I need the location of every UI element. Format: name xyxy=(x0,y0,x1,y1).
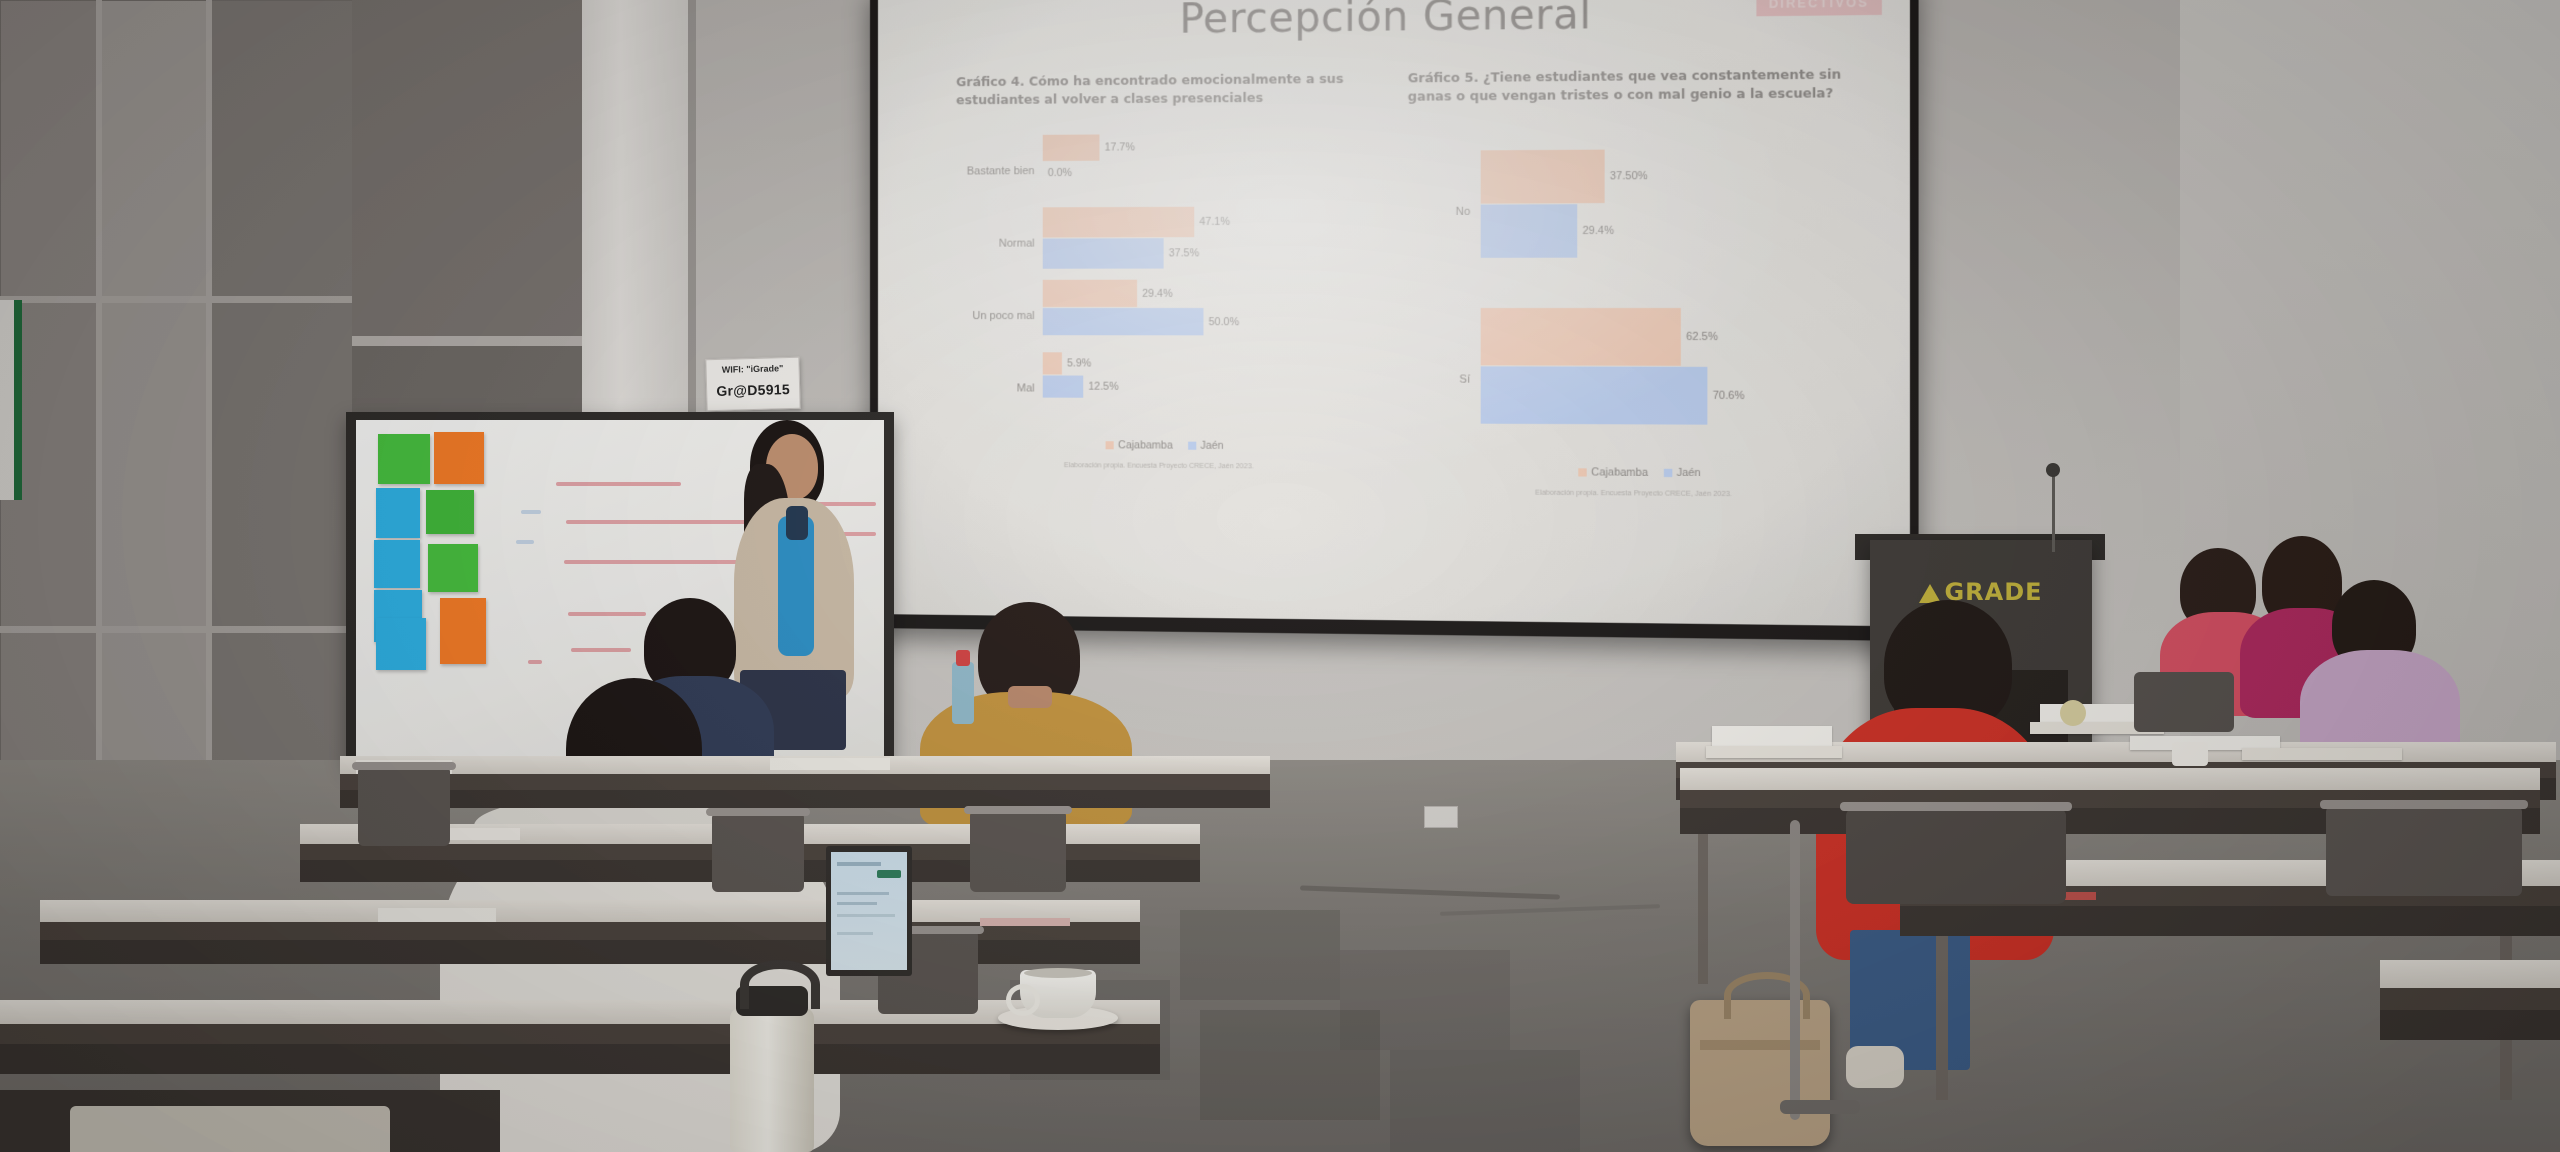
chart-4-val-3-1: 12.5% xyxy=(1083,381,1118,393)
sticky-note-blue xyxy=(376,488,420,538)
wifi-password-label: Gr@D5915 xyxy=(707,381,799,399)
wall-panel-upper xyxy=(352,0,584,340)
chart-5-title-lead: Gráfico 5. xyxy=(1408,69,1479,85)
chart-5-group-no: No 37.50% 29.4% xyxy=(1408,148,1863,273)
chart-5-legend-swatch-jaen xyxy=(1664,469,1672,477)
chart-5-val-0-1: 29.4% xyxy=(1577,225,1614,237)
chart-4-title: Gráfico 4. Cómo ha encontrado emocionalm… xyxy=(956,70,1364,110)
chart-4-legend-label-jaen: Jaén xyxy=(1200,440,1223,452)
chart-5-title: Gráfico 5. ¿Tiene estudiantes que vea co… xyxy=(1408,65,1863,106)
chart-4-title-lead: Gráfico 4. xyxy=(956,74,1024,90)
water-bottle xyxy=(712,960,832,1152)
chart-4-group-bastante-bien: Bastante bien 17.7% 0.0% xyxy=(956,133,1364,208)
chair-back xyxy=(1846,808,2066,904)
sticky-note-blue xyxy=(376,618,426,670)
chart-4-val-0-0: 17.7% xyxy=(1099,142,1134,154)
chair-back xyxy=(712,812,804,892)
chair-back xyxy=(2326,806,2522,896)
projection-screen: Percepción General DIRECTIVOS Gráfico 4.… xyxy=(878,0,1910,626)
bag-foreground xyxy=(70,1106,390,1152)
presentation-slide: Percepción General DIRECTIVOS Gráfico 4.… xyxy=(878,0,1910,626)
sticky-note-orange xyxy=(434,432,484,484)
chart-5-plot: No 37.50% 29.4% Sí 62.5% 70.6% xyxy=(1408,148,1863,501)
chair-back xyxy=(2134,672,2234,732)
attendee4-shoe xyxy=(1846,1046,1904,1088)
chart-4-legend: Cajabamba Jaén xyxy=(956,439,1364,453)
chart-4-val-2-1: 50.0% xyxy=(1203,316,1239,328)
wall-outlet xyxy=(1424,806,1458,828)
wifi-sign: WIFI: "iGrade" Gr@D5915 xyxy=(705,357,800,411)
chart-4-val-1-0: 47.1% xyxy=(1194,216,1230,228)
classroom-scene: WIFI: "iGrade" Gr@D5915 Percepción Gener… xyxy=(0,0,2560,1152)
sticky-note-green xyxy=(428,544,478,592)
chart-4-group-un-poco-mal: Un poco mal 29.4% 50.0% xyxy=(956,280,1364,353)
microphone-stem xyxy=(2052,470,2055,552)
trolley-base xyxy=(1780,1100,1860,1114)
bag-strap xyxy=(1700,1040,1820,1050)
bottle-handle xyxy=(740,960,820,1009)
chart-4-val-2-0: 29.4% xyxy=(1137,288,1172,300)
papers-on-desk xyxy=(770,758,890,770)
cup-rim xyxy=(1024,968,1092,978)
sticky-note-orange xyxy=(440,598,486,664)
chart-grafico-4: Gráfico 4. Cómo ha encontrado emocionalm… xyxy=(956,70,1364,474)
phone-on-desk xyxy=(980,918,1070,926)
chart-4-cat-3: Mal xyxy=(956,382,1035,394)
chart-4-legend-label-cajabamba: Cajabamba xyxy=(1118,440,1173,452)
sticky-note-blue xyxy=(374,540,420,588)
trolley-pole xyxy=(1790,820,1800,1120)
coffee-cup-right xyxy=(2172,742,2208,766)
tote-bag xyxy=(1690,1000,1830,1146)
wall-panel-divider xyxy=(352,336,584,346)
chart-4-group-normal: Normal 47.1% 37.5% xyxy=(956,206,1364,280)
chair-frame xyxy=(352,762,456,770)
chart-5-legend-label-jaen: Jaén xyxy=(1677,467,1701,480)
chart-4-val-3-0: 5.9% xyxy=(1062,358,1091,370)
chair-frame xyxy=(1840,802,2072,811)
chart-5-group-si: Sí 62.5% 70.6% xyxy=(1408,308,1863,453)
notebook-on-desk xyxy=(378,908,496,922)
slide-audience-badge: DIRECTIVOS xyxy=(1756,0,1882,16)
chart-5-cat-1: Sí xyxy=(1408,374,1471,386)
chart-4-val-1-1: 37.5% xyxy=(1164,247,1200,259)
paper-stack xyxy=(1706,746,1842,758)
chart-4-legend-swatch-jaen xyxy=(1188,442,1196,450)
chart-5-cat-0: No xyxy=(1408,206,1471,218)
chart-4-cat-2: Un poco mal xyxy=(956,310,1035,322)
presenter-collar xyxy=(786,506,808,540)
chart-4-plot: Bastante bien 17.7% 0.0% Normal 47.1% 37… xyxy=(956,133,1364,473)
cup-handle xyxy=(1006,984,1040,1016)
desk-left-row4 xyxy=(0,1000,1160,1080)
sticky-note-green xyxy=(426,490,474,534)
attendee3-neck xyxy=(1008,686,1052,708)
chart-grafico-5: Gráfico 5. ¿Tiene estudiantes que vea co… xyxy=(1408,65,1863,501)
chair-back xyxy=(970,810,1066,892)
laptop-screen xyxy=(831,852,907,970)
microphone-icon xyxy=(2046,463,2060,477)
chair-frame xyxy=(964,806,1072,814)
chart-4-cat-1: Normal xyxy=(956,238,1035,250)
small-bottle xyxy=(952,662,974,724)
chart-5-legend: Cajabamba Jaén xyxy=(1408,465,1863,480)
chart-5-val-1-1: 70.6% xyxy=(1707,390,1744,403)
chart-4-source: Elaboración propia. Encuesta Proyecto CR… xyxy=(956,461,1364,473)
small-bottle-cap xyxy=(956,650,970,666)
chart-4-group-mal: Mal 5.9% 12.5% xyxy=(956,352,1364,426)
chart-4-legend-swatch-cajabamba xyxy=(1106,442,1114,450)
chart-5-val-0-0: 37.50% xyxy=(1605,170,1648,183)
chart-5-legend-swatch-cajabamba xyxy=(1579,469,1587,477)
door-edge xyxy=(0,300,14,500)
chart-4-cat-0: Bastante bien xyxy=(956,165,1035,177)
laptop xyxy=(826,846,912,988)
chair-back xyxy=(358,766,450,846)
sticky-note-green xyxy=(378,434,430,484)
desk-right-row4 xyxy=(2380,960,2560,1152)
bottle-body xyxy=(730,1008,814,1152)
chair-frame xyxy=(2320,800,2528,809)
chart-5-val-1-0: 62.5% xyxy=(1681,331,1718,343)
projection-screen-frame: Percepción General DIRECTIVOS Gráfico 4.… xyxy=(870,0,1919,641)
paper-stack xyxy=(2242,748,2402,760)
chart-5-legend-label-cajabamba: Cajabamba xyxy=(1591,467,1648,480)
chair-frame xyxy=(706,808,810,816)
cup-on-desk xyxy=(2060,700,2086,726)
coffee-cup xyxy=(992,962,1122,1038)
chart-4-val-0-1: 0.0% xyxy=(1043,167,1072,179)
wifi-ssid-label: WIFI: "iGrade" xyxy=(706,363,798,375)
chart-5-source: Elaboración propia. Encuesta Proyecto CR… xyxy=(1408,488,1863,501)
